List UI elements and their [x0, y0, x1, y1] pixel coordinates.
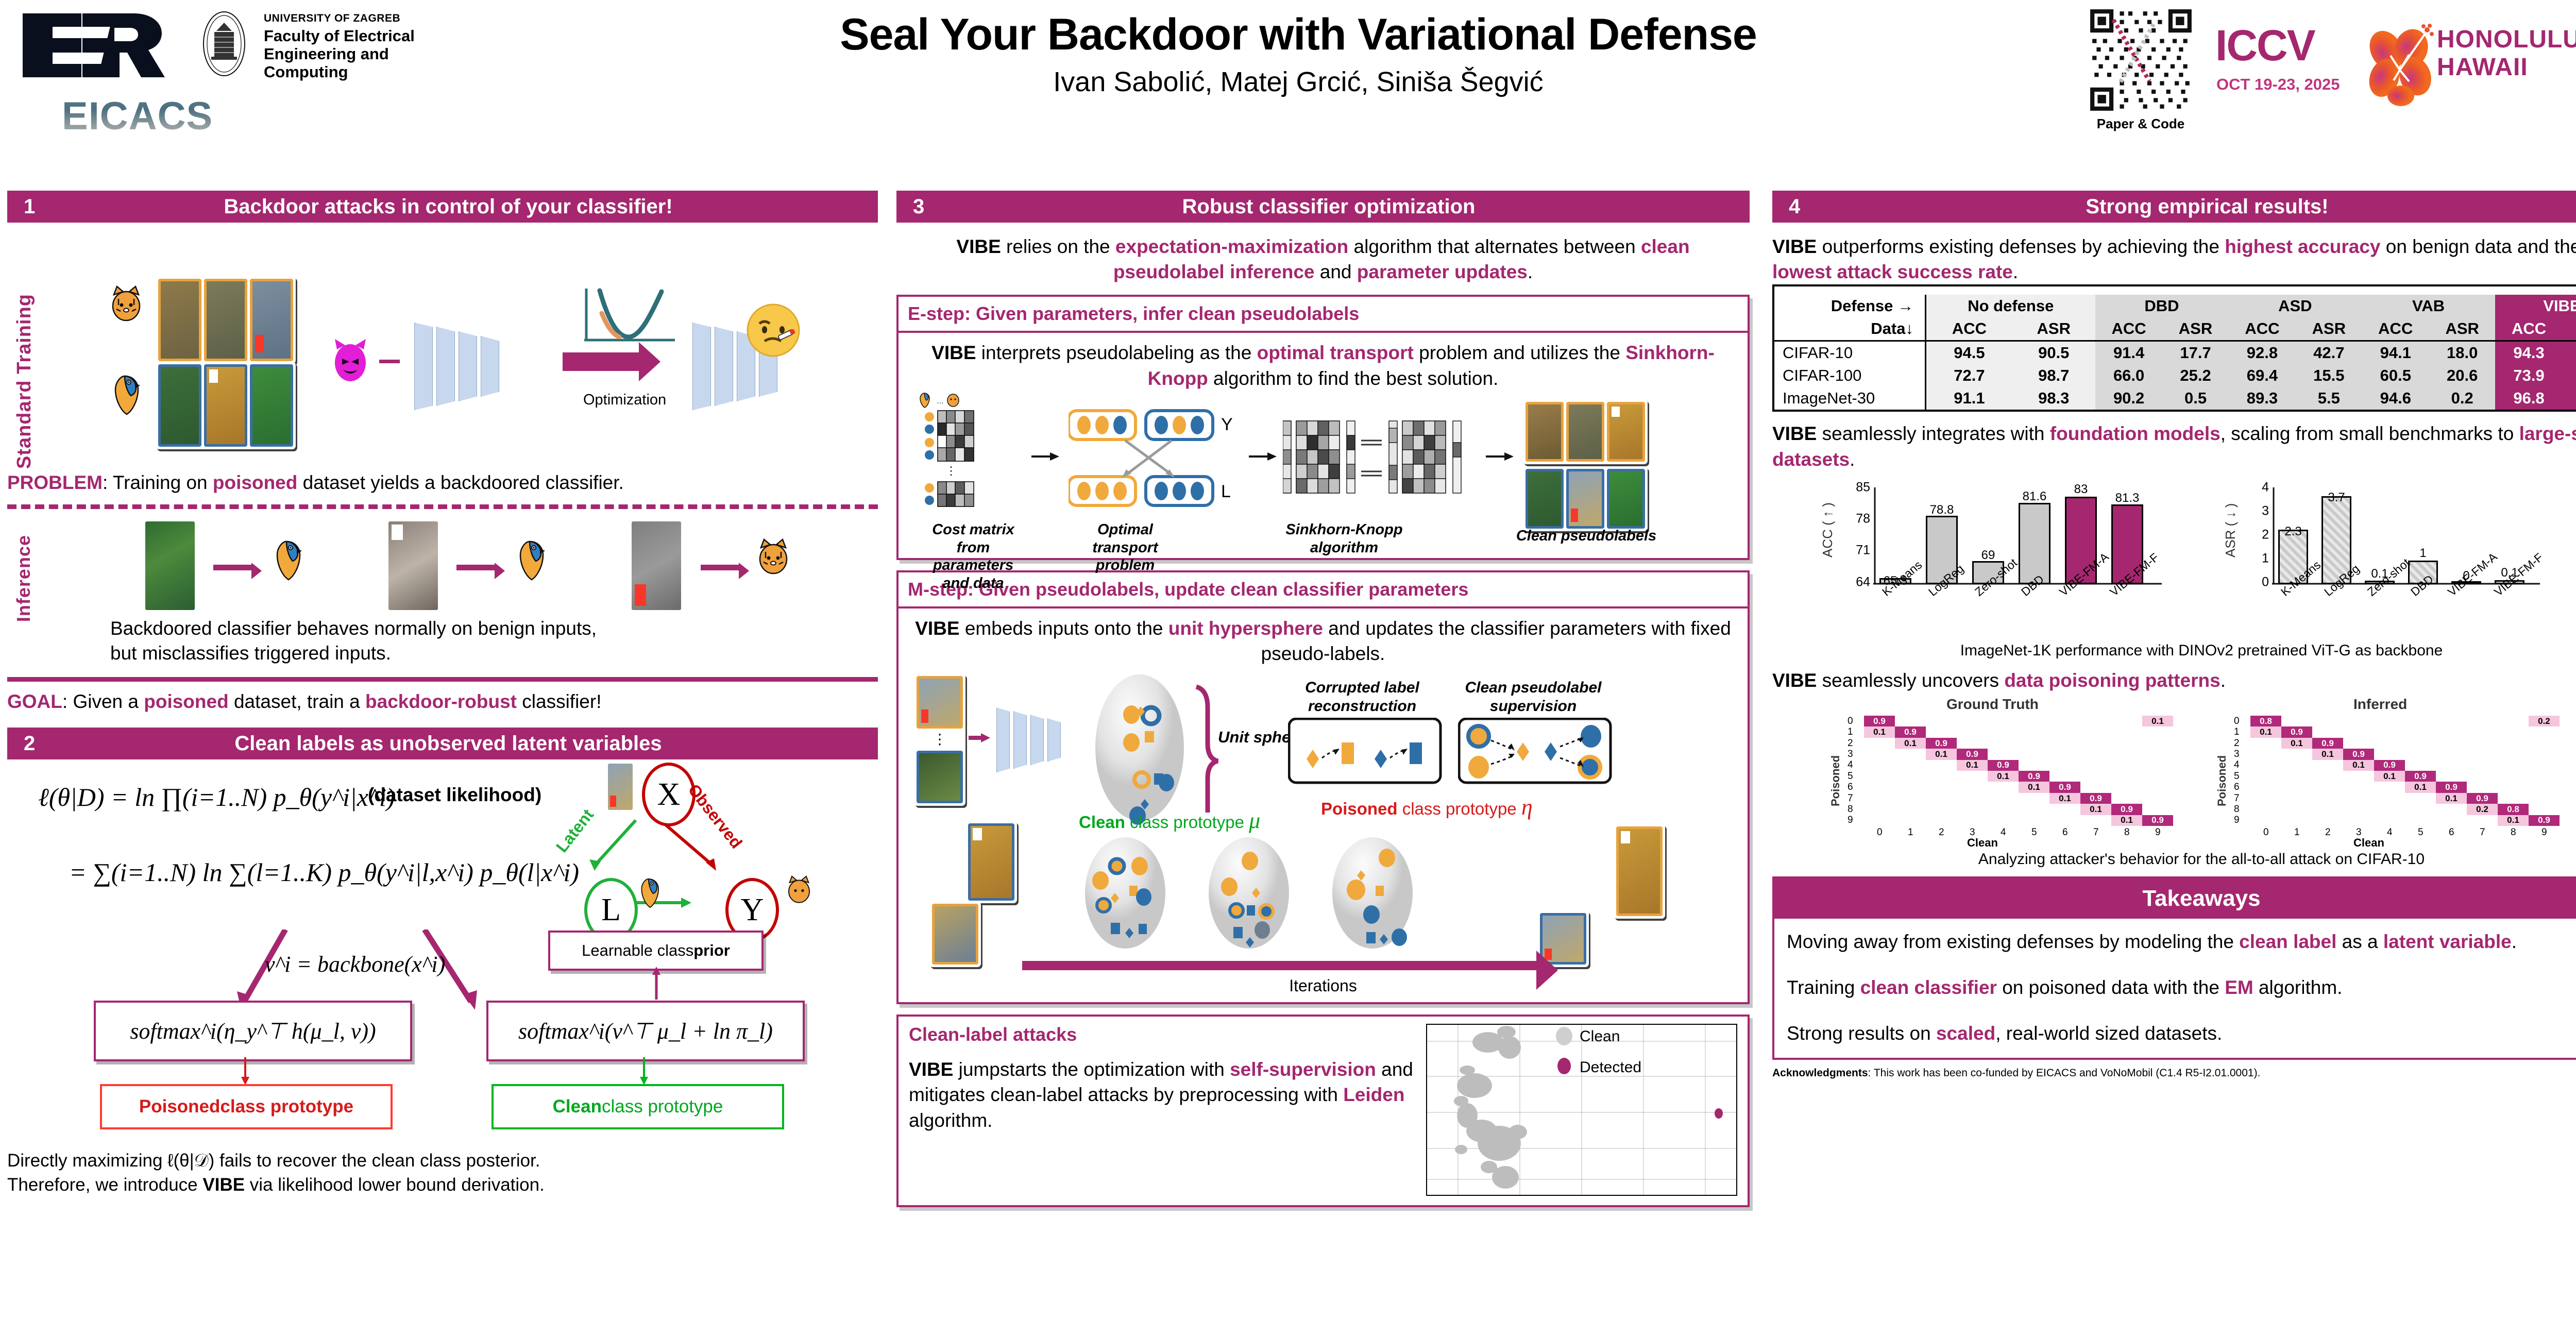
heatmap-cell: 0.9: [2019, 771, 2049, 782]
clean-pseudolabels-tiger: [1523, 399, 1648, 464]
mstep-description: VIBE embeds inputs onto the unit hypersp…: [909, 616, 1737, 666]
ytick: 3: [2262, 503, 2269, 518]
acknowledgments: Acknowledgments: This work has been co-f…: [1772, 1067, 2576, 1079]
asr-val: 1: [2419, 546, 2426, 561]
pseudolabel-thumb: [1526, 469, 1564, 529]
cell: 98.7: [2012, 364, 2095, 387]
mstep-card: M-step: Given pseudolabels, update clean…: [896, 570, 1750, 1004]
table-metric: ASR: [2012, 317, 2095, 341]
loss-curve-chart: [579, 286, 682, 348]
sick-face-icon: [746, 303, 801, 358]
cell: 20.6: [2429, 364, 2495, 387]
heatmap-ytick: 4: [2234, 759, 2240, 771]
heatmap-right-ylabel: Poisoned: [2215, 734, 2229, 806]
iccv-logo: ICCV OCT 19-23, 2025 HONOLULU HAWAII: [2215, 14, 2576, 112]
cell: 66.0: [2095, 364, 2163, 387]
matrix-class-icons: …: [917, 391, 963, 409]
heatmap-cell: 0.9: [2374, 760, 2405, 771]
tiger-prediction-icon: [755, 535, 791, 579]
heatmap-cell: 0.1: [1895, 738, 1926, 749]
heatmap-cell: 0.8: [2498, 804, 2529, 815]
column-1: 1 Backdoor attacks in control of your cl…: [7, 191, 878, 1197]
clean-supervision-box: [1458, 718, 1613, 785]
table-metric: ACC: [2362, 317, 2429, 341]
estep-fig-label-1: Optimal transport problem: [1063, 521, 1187, 574]
mstep-input-arrow: [969, 731, 991, 745]
fer-logo: [20, 9, 174, 81]
table-group-vibe: VIBE: [2495, 295, 2576, 317]
estep-pipeline-figure: ⋮ …: [909, 394, 1737, 549]
table-metric: ASR: [2163, 317, 2229, 341]
estep-card: E-step: Given parameters, infer clean ps…: [896, 295, 1750, 560]
heatmap-cell: 0.1: [2374, 771, 2405, 782]
cell: 5.5: [2296, 387, 2362, 410]
asr-val: 3.7: [2328, 491, 2345, 505]
table-corner-data: Data↓: [1774, 317, 1926, 341]
heatmap-cell: 0.9: [2312, 738, 2343, 749]
cleanlabel-title: Clean-label attacks: [909, 1024, 1416, 1045]
heatmap-right-title: Inferred: [2353, 696, 2407, 713]
estep-arrow-2: [1249, 449, 1280, 464]
affiliation-line-2: Engineering and: [264, 45, 434, 63]
cell: 42.7: [2296, 341, 2362, 365]
heatmap-cell: 0.1: [2405, 782, 2436, 792]
paper-code-qr[interactable]: Paper & Code: [2076, 7, 2205, 132]
unit-sphere-main: [1084, 670, 1202, 825]
poisoned-posterior-box: softmax^i(η_y^⊤ h(μ_l, v)): [94, 1001, 412, 1061]
inference-side-label: Inference: [14, 535, 33, 622]
acc-val: 81.3: [2115, 491, 2140, 505]
table-group-vab: VAB: [2362, 295, 2495, 317]
heatmap-xtick: 4: [2001, 827, 2006, 838]
section-2-footer-line1: Directly maximizing ℓ(θ|𝒟) fails to reco…: [7, 1149, 878, 1173]
inference-input-triggered-1: [388, 521, 438, 610]
cell: 72.7: [1926, 364, 2012, 387]
estep-title: E-step: Given parameters, infer clean ps…: [899, 297, 1748, 333]
heatmap-xtick: 0: [2263, 827, 2269, 838]
cell: 91.4: [2095, 341, 2163, 365]
estep-fig-label-0: Cost matrix from parameters and data: [919, 521, 1027, 593]
heatmap-xtick: 8: [2511, 827, 2516, 838]
standard-training-side-label: Standard Training: [14, 294, 34, 469]
estep-fig-label-3: Clean pseudolabels: [1506, 527, 1666, 545]
foundation-model-charts: ACC ( ↑ ) 85 78 71 64 65.3 78: [1772, 479, 2576, 608]
iccv-name: ICCV: [2215, 21, 2315, 71]
clean-pseudolabels-parrot: [1523, 466, 1648, 531]
acc-val: 78.8: [1930, 503, 1954, 517]
pseudolabel-thumb: [1526, 402, 1564, 462]
acc-val: 83: [2074, 482, 2088, 497]
qr-code-icon[interactable]: [2088, 7, 2194, 113]
inference-figure: Inference: [7, 514, 878, 669]
legend-clean-marker: [1556, 1027, 1572, 1045]
prior-arrow: [646, 966, 667, 1002]
inference-arrow-2: [456, 565, 497, 570]
heatmap-ytick: 5: [2234, 771, 2240, 782]
optimization-label: Optimization: [583, 392, 666, 409]
svg-text:L: L: [1221, 482, 1231, 501]
section-3-header: 3 Robust classifier optimization: [896, 191, 1750, 223]
table-row: ImageNet-30 91.1 98.3 90.2 0.5 89.3 5.5 …: [1774, 387, 2576, 410]
clean-prototype-callout: Clean class prototype μ: [1079, 807, 1260, 834]
poisoning-heatmaps: Ground Truth Poisoned 0.90.10.10.90.10.9…: [1772, 698, 2576, 848]
heatmap-xtick: 4: [2387, 827, 2393, 838]
parrot-class-icon: [109, 372, 143, 416]
heatmap-cell: 0.1: [2498, 815, 2529, 826]
mstep-figure: ⋮: [909, 668, 1737, 957]
estep-description: VIBE interprets pseudolabeling as the op…: [909, 340, 1737, 391]
cell: 60.5: [2362, 364, 2429, 387]
section-1-header: 1 Backdoor attacks in control of your cl…: [7, 191, 878, 223]
parrot-prediction-icon-2: [514, 535, 548, 584]
node-l-parrot-icon: [637, 876, 663, 909]
poisoned-trainset-tiger-card: [156, 276, 296, 364]
heatmap-xtick: 2: [1939, 827, 1944, 838]
poster-root: UNIVERSITY OF ZAGREB Faculty of Electric…: [0, 0, 2576, 1319]
acc-val: 81.6: [2023, 489, 2047, 504]
classifier-network-1: [414, 323, 499, 410]
cell: 94.6: [2362, 387, 2429, 410]
ack-text: : This work has been co-funded by EICACS…: [1868, 1067, 2261, 1079]
affiliation-line-3: Computing: [264, 63, 434, 81]
equation-likelihood-note: (dataset likelihood): [368, 784, 541, 806]
section-2-number: 2: [24, 732, 35, 755]
heatmap-cell: 0.9: [1957, 749, 1988, 759]
table-metric: ASR: [2429, 317, 2495, 341]
heatmap-cell: 0.9: [1926, 738, 1957, 749]
train-thumb: [158, 279, 201, 361]
foundation-models-text: VIBE seamlessly integrates with foundati…: [1772, 421, 2576, 471]
cell: 17.7: [2163, 341, 2229, 365]
train-thumb: [204, 279, 247, 361]
mstep-example-tiger-1: [965, 821, 1017, 903]
svg-text:…: …: [937, 397, 944, 405]
ytick: 0: [2262, 574, 2269, 589]
eicacs-logo: EICACS: [62, 94, 213, 139]
table-group-nodefense: No defense: [1926, 295, 2095, 317]
goal-statement: GOAL: Given a poisoned dataset, train a …: [7, 689, 878, 714]
cell: 25.2: [2163, 364, 2229, 387]
train-thumb-triggered: [250, 279, 293, 361]
heatmap-ytick: 8: [2234, 804, 2240, 815]
heatmap-cell: 0.1: [2111, 815, 2142, 826]
cell: 0.2: [2429, 387, 2495, 410]
poisoned-prototype-label: Poisoned class prototype: [100, 1084, 393, 1129]
equation-marginalized: = ∑(i=1..N) ln ∑(l=1..K) p_θ(y^i|l,x^i) …: [69, 857, 579, 887]
heatmap-cell: 0.1: [2049, 793, 2080, 804]
example-thumb: [1616, 826, 1663, 916]
ytick: 2: [2262, 527, 2269, 542]
svg-text:⋮: ⋮: [945, 464, 957, 477]
heatmap-ytick: 7: [2234, 793, 2240, 804]
heatmap-xtick: 7: [2480, 827, 2485, 838]
equation-likelihood: ℓ(θ|D) = ln ∏(i=1..N) p_θ(y^i|x^i): [38, 782, 395, 812]
table-group-dbd: DBD: [2095, 295, 2229, 317]
section-4-title: Strong empirical results!: [1772, 195, 2576, 218]
heatmap-ytick: 6: [1848, 782, 1853, 793]
acc-bar-dbd: [2019, 503, 2050, 584]
charts-caption: ImageNet-1K performance with DINOv2 pret…: [1772, 642, 2576, 659]
parrot-prediction-icon-1: [271, 535, 305, 584]
heatmap-left-ylabel: Poisoned: [1829, 734, 1842, 806]
acc-y-axis: 85 78 71 64: [1842, 484, 1873, 582]
heatmap-cell: 0.2: [2467, 804, 2498, 815]
train-thumb-triggered: [204, 364, 247, 447]
table-metric: ACC: [1926, 317, 2012, 341]
takeaway-item-1: Moving away from existing defenses by mo…: [1787, 929, 2576, 954]
optimal-transport-icon: Y L: [1069, 409, 1239, 519]
heatmap-cell: 0.1: [2312, 749, 2343, 759]
heatmap-ytick: 2: [1848, 738, 1853, 749]
cost-matrix-icon: ⋮: [922, 397, 1025, 516]
university-affiliation: UNIVERSITY OF ZAGREB Faculty of Electric…: [264, 12, 434, 81]
heatmap-ytick: 2: [2234, 738, 2240, 749]
heatmap-xtick: 5: [2418, 827, 2424, 838]
heatmap-xtick: 5: [2031, 827, 2037, 838]
pseudolabel-thumb: [1607, 469, 1645, 529]
heatmap-cell: 0.9: [2142, 815, 2173, 826]
heatmap-cell: 0.1: [2142, 716, 2173, 726]
column-3: 4 Strong empirical results! VIBE outperf…: [1772, 191, 2576, 1079]
section-1-title: Backdoor attacks in control of your clas…: [7, 195, 878, 218]
heatmap-ytick: 9: [2234, 815, 2240, 826]
sphere-brace: [1191, 684, 1222, 813]
section-2-derivation: ℓ(θ|D) = ln ∏(i=1..N) p_θ(y^i|x^i) (data…: [7, 759, 878, 1048]
equation-backbone: v^i = backbone(x^i): [265, 951, 445, 977]
cell: 98.3: [2012, 387, 2095, 410]
section-3-number: 3: [913, 195, 924, 218]
heatmap-cell: 0.9: [1895, 726, 1926, 737]
heatmap-cell: 0.9: [2529, 815, 2560, 826]
heatmap-cell: 0.9: [2049, 782, 2080, 792]
heatmap-xtick: 2: [2325, 827, 2331, 838]
section-1-number: 1: [24, 195, 35, 218]
heatmap-cell: 0.9: [2080, 793, 2111, 804]
heatmap-caption: Analyzing attacker's behavior for the al…: [1772, 851, 2576, 868]
legend-clean-text: Clean: [1580, 1028, 1620, 1045]
ack-label: Acknowledgments: [1772, 1067, 1868, 1079]
heatmap-left-xlabel: Clean: [1967, 836, 1998, 850]
qr-caption: Paper & Code: [2076, 116, 2205, 132]
cell: 18.0: [2429, 341, 2495, 365]
heatmap-cell: 0.1: [2343, 760, 2374, 771]
takeaways-body: Moving away from existing defenses by mo…: [1774, 919, 2576, 1058]
ytick: 64: [1856, 574, 1870, 589]
heatmap-cell: 0.1: [2019, 782, 2049, 792]
goal-label: GOAL: [7, 691, 62, 712]
poster-header: UNIVERSITY OF ZAGREB Faculty of Electric…: [0, 0, 2576, 187]
cell: 91.1: [1926, 387, 2012, 410]
standard-training-figure: Standard Training: [7, 227, 878, 459]
heatmap-left-grid: 0.90.10.10.90.10.90.10.90.10.90.10.90.10…: [1864, 716, 2173, 826]
section-3-title: Robust classifier optimization: [896, 195, 1750, 218]
iccv-city-line1: HONOLULU: [2437, 26, 2576, 54]
heatmap-cell: 0.9: [2467, 793, 2498, 804]
divider-solid: [7, 677, 878, 682]
cell: 92.8: [2228, 341, 2296, 365]
acc-val: 69: [1981, 548, 1995, 563]
tiger-class-icon: [108, 284, 144, 324]
legend-detected-text: Detected: [1580, 1059, 1641, 1076]
cell: 94.5: [1926, 341, 2012, 365]
table-metric-header-row: Data↓ ACC ASR ACC ASR ACC ASR ACC ASR AC…: [1774, 317, 2576, 341]
svg-text:Y: Y: [1221, 415, 1233, 434]
poisoned-proto-arrow: [238, 1057, 253, 1086]
heatmap-ytick: 3: [2234, 749, 2240, 760]
heatmap-cell: 0.8: [2250, 716, 2281, 726]
results-table-wrapper: Defense → No defense DBD ASD VAB VIBE Da…: [1772, 284, 2576, 412]
heatmap-ytick: 5: [1848, 771, 1853, 782]
iterations-axis: Iterations: [909, 957, 1737, 998]
table-row-label: CIFAR-10: [1774, 341, 1926, 365]
clean-proto-arrow: [637, 1057, 652, 1086]
ytick: 71: [1856, 543, 1870, 557]
problem-statement: PROBLEM: Training on poisoned dataset yi…: [7, 470, 878, 495]
heatmap-ytick: 8: [1848, 804, 1853, 815]
node-x-thumb: [608, 764, 633, 810]
heatmap-cell: 0.1: [2281, 738, 2312, 749]
optimization-arrow: [563, 352, 640, 371]
heatmap-cell: 0.1: [2436, 793, 2467, 804]
takeaway-item-3: Strong results on scaled, real-world siz…: [1787, 1021, 2576, 1046]
cell: 0.1: [2563, 387, 2576, 410]
asr-bar-chart: ASR ( ↓ ) 4 3 2 1 0 2.3: [2223, 479, 2576, 608]
sinkhorn-icon: [1283, 416, 1479, 509]
table-metric: ACC: [2228, 317, 2296, 341]
heatmap-cell: 0.9: [2111, 804, 2142, 815]
attack-arrow: [379, 360, 400, 363]
table-row-label: ImageNet-30: [1774, 387, 1926, 410]
poisoned-prototype-callout: Poisoned class prototype η: [1321, 794, 1533, 820]
train-thumb: [158, 364, 201, 447]
heatmap-xtick: 6: [2062, 827, 2068, 838]
table-group-header-row: Defense → No defense DBD ASD VAB VIBE: [1774, 295, 2576, 317]
cell: 89.3: [2228, 387, 2296, 410]
heatmap-cell: 0.1: [2250, 726, 2281, 737]
node-y-tiger-icon: [785, 874, 813, 906]
cleanlabel-card: Clean-label attacks VIBE jumpstarts the …: [896, 1014, 1750, 1207]
detected-point: [1715, 1108, 1723, 1119]
heatmap-cell: 0.1: [1926, 749, 1957, 759]
affiliation-line-1: Faculty of Electrical: [264, 27, 434, 45]
cell: 73.9: [2495, 364, 2563, 387]
iccv-date: OCT 19-23, 2025: [2216, 75, 2340, 94]
train-thumb: [250, 364, 293, 447]
heatmap-cell: 0.9: [2436, 782, 2467, 792]
hibiscus-flower-icon: [2360, 19, 2447, 109]
ytick: 78: [1856, 511, 1870, 526]
heatmap-left-title: Ground Truth: [1946, 696, 2039, 713]
heatmap-cell: 0.9: [2405, 771, 2436, 782]
asr-axis-label: ASR ( ↓ ): [2223, 491, 2239, 557]
iccv-city-line2: HAWAII: [2437, 54, 2576, 81]
cleanlabel-description: VIBE jumpstarts the optimization with se…: [909, 1057, 1416, 1133]
heatmap-xtick: 9: [2541, 827, 2547, 838]
column-2: 3 Robust classifier optimization VIBE re…: [896, 191, 1750, 1207]
mstep-example-tiger-2: [1614, 824, 1665, 919]
heatmap-xtick: 1: [2294, 827, 2300, 838]
heatmap-ytick: 1: [2234, 726, 2240, 738]
table-metric: ASR: [2563, 317, 2576, 341]
table-corner-defense: Defense →: [1774, 295, 1926, 317]
clean-prototype-label: Clean class prototype: [492, 1084, 784, 1129]
heatmap-ytick: 6: [2234, 782, 2240, 793]
section-2-footer-line2: Therefore, we introduce VIBE via likelih…: [7, 1173, 878, 1197]
heatmap-cell: 0.9: [1864, 716, 1895, 726]
section-4-header: 4 Strong empirical results!: [1772, 191, 2576, 223]
heatmap-xtick: 8: [2124, 827, 2130, 838]
pseudolabel-thumb-triggered: [1566, 469, 1604, 529]
heatmap-ytick: 0: [2234, 716, 2240, 727]
heatmap-ytick: 3: [1848, 749, 1853, 760]
acc-axis-label: ACC ( ↑ ): [1820, 491, 1836, 557]
learnable-prior-callout: Learnable class prior: [548, 931, 764, 971]
asr-y-axis: 4 3 2 1 0: [2243, 484, 2272, 582]
cell: 0.5: [2563, 364, 2576, 387]
example-thumb: [932, 904, 978, 965]
table-group-asd: ASD: [2228, 295, 2362, 317]
cell: 0.5: [2163, 387, 2229, 410]
cell: 15.5: [2296, 364, 2362, 387]
iteration-spheres: [1063, 836, 1579, 950]
estep-arrow-1: [1031, 449, 1062, 464]
clean-supervision-caption: Clean pseudolabel supervision: [1456, 679, 1611, 716]
inference-arrow-3: [701, 565, 741, 570]
cell: 90.5: [2012, 341, 2095, 365]
example-thumb: [968, 823, 1014, 901]
iccv-location: HONOLULU HAWAII: [2437, 26, 2576, 81]
estep-arrow-3: [1486, 449, 1517, 464]
cell: 3.2: [2563, 341, 2576, 365]
heatmap-xtick: 6: [2449, 827, 2454, 838]
results-table: Defense → No defense DBD ASD VAB VIBE Da…: [1774, 295, 2576, 410]
inference-description: Backdoored classifier behaves normally o…: [110, 616, 597, 666]
heatmap-cell: 0.1: [1864, 726, 1895, 737]
problem-label: PROBLEM: [7, 472, 103, 493]
cell: 90.2: [2095, 387, 2163, 410]
ytick: 85: [1856, 480, 1870, 495]
mstep-inputs: ⋮: [914, 673, 965, 806]
mstep-input-ellipsis: ⋮: [917, 731, 963, 748]
clean-posterior-box: softmax^i(v^⊤ μ_l + ln π_l): [486, 1001, 805, 1061]
mstep-input-thumb-top: [917, 676, 963, 729]
poisoned-trainset-parrot-card: [156, 362, 296, 449]
iterations-arrow: [1022, 961, 1537, 970]
author-list: Ivan Sabolić, Matej Grcić, Siniša Šegvić: [577, 66, 2020, 98]
section-3-intro: VIBE relies on the expectation-maximizat…: [896, 234, 1750, 284]
section-4-intro: VIBE outperforms existing defenses by ac…: [1772, 234, 2576, 284]
cell: 96.8: [2495, 387, 2563, 410]
estep-fig-label-2: Sinkhorn-Knopp algorithm: [1269, 521, 1419, 557]
heatmap-ytick: 7: [1848, 793, 1853, 804]
heatmap-ytick: 0: [1848, 716, 1853, 727]
legend-detected-marker: [1557, 1058, 1571, 1074]
page-title: Seal Your Backdoor with Variational Defe…: [577, 9, 2020, 60]
mstep-input-thumb-bottom: [917, 751, 963, 803]
poisoning-patterns-text: VIBE seamlessly uncovers data poisoning …: [1772, 668, 2576, 693]
ytick: 1: [2262, 551, 2269, 566]
table-row: CIFAR-100 72.7 98.7 66.0 25.2 69.4 15.5 …: [1774, 364, 2576, 387]
inference-input-triggered-2: [632, 521, 681, 610]
table-metric: ACC: [2095, 317, 2163, 341]
heatmap-inferred: Inferred Poisoned 0.80.20.10.90.10.90.10…: [2214, 698, 2575, 848]
equation-clean: softmax^i(v^⊤ μ_l + ln π_l): [518, 1018, 773, 1044]
heatmap-cell: 0.1: [1957, 760, 1988, 771]
takeaways-box: Takeaways Moving away from existing defe…: [1772, 876, 2576, 1060]
pseudolabel-thumb-triggered: [1607, 402, 1645, 462]
acc-bar-chart: ACC ( ↑ ) 85 78 71 64 65.3 78: [1820, 479, 2211, 608]
heatmap-xtick: 7: [2093, 827, 2099, 838]
